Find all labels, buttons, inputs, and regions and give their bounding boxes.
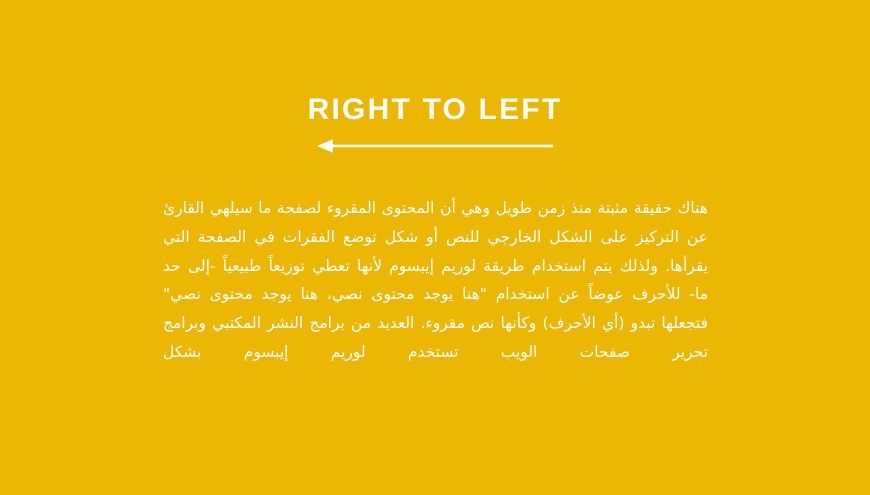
body-paragraph: هناك حقيقة مثبتة منذ زمن طويل وهي أن الم… xyxy=(163,194,708,367)
header-block: RIGHT TO LEFT xyxy=(0,92,870,155)
arrow-left-icon xyxy=(317,137,553,155)
page-title: RIGHT TO LEFT xyxy=(308,92,563,128)
slide-canvas: RIGHT TO LEFT هناك حقيقة مثبتة منذ زمن ط… xyxy=(0,0,870,495)
